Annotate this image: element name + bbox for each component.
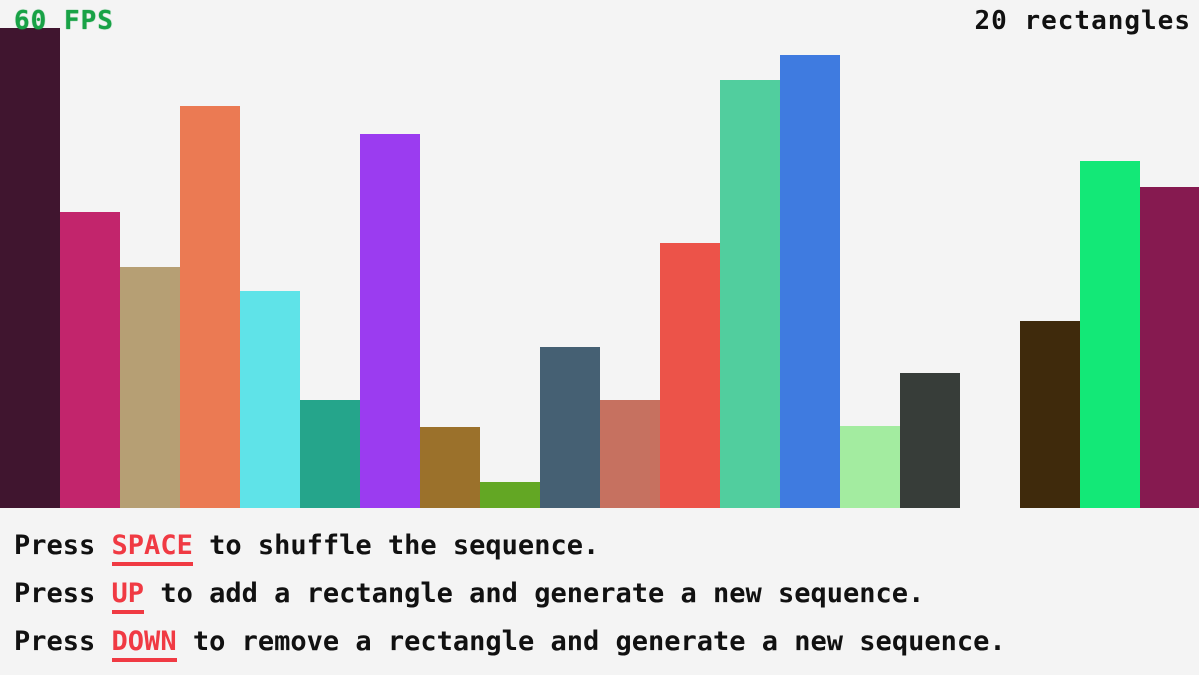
rectangle-count-label: 20 rectangles (975, 8, 1192, 34)
fps-counter: 60 FPS (14, 8, 114, 34)
bar-6 (300, 400, 360, 508)
rectangle-sequence-chart (0, 0, 1199, 508)
bar-10 (540, 347, 600, 508)
instruction-suffix: to remove a rectangle and generate a new… (177, 626, 1006, 657)
bar-13 (720, 80, 780, 508)
bar-5 (240, 291, 300, 508)
bar-16 (900, 373, 960, 508)
bar-1 (0, 28, 60, 508)
instruction-line-remove: Press DOWN to remove a rectangle and gen… (14, 618, 1199, 666)
bar-9 (480, 482, 540, 508)
bar-18 (1020, 321, 1080, 508)
instruction-prefix: Press (14, 530, 112, 561)
bar-2 (60, 212, 120, 508)
bar-4 (180, 106, 240, 508)
bar-7 (360, 134, 420, 508)
bar-14 (780, 55, 840, 508)
bar-8 (420, 427, 480, 508)
instructions-panel: Press SPACE to shuffle the sequence. Pre… (0, 508, 1199, 675)
app-canvas: 60 FPS 20 rectangles Press SPACE to shuf… (0, 0, 1199, 675)
bar-15 (840, 426, 900, 508)
instruction-suffix: to add a rectangle and generate a new se… (144, 578, 924, 609)
instruction-line-add: Press UP to add a rectangle and generate… (14, 570, 1199, 618)
instruction-suffix: to shuffle the sequence. (193, 530, 599, 561)
instruction-prefix: Press (14, 626, 112, 657)
bar-11 (600, 400, 660, 508)
key-down[interactable]: DOWN (112, 626, 177, 662)
instruction-line-shuffle: Press SPACE to shuffle the sequence. (14, 522, 1199, 570)
bar-3 (120, 267, 180, 508)
bar-20 (1140, 187, 1199, 508)
bar-12 (660, 243, 720, 508)
bar-19 (1080, 161, 1140, 508)
key-up[interactable]: UP (112, 578, 145, 614)
instruction-prefix: Press (14, 578, 112, 609)
key-space[interactable]: SPACE (112, 530, 193, 566)
